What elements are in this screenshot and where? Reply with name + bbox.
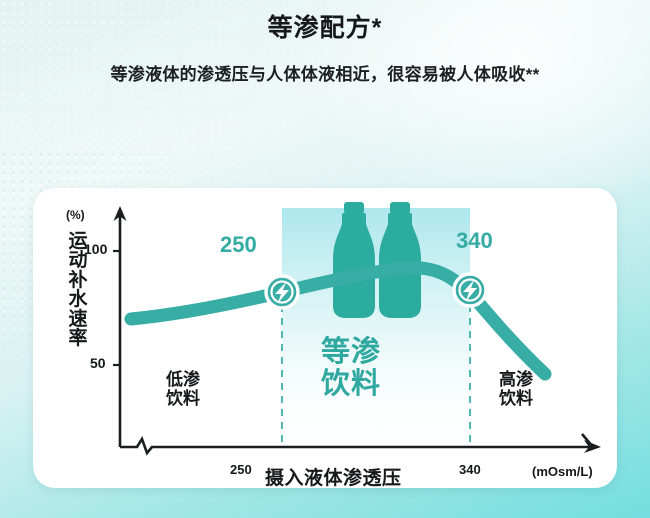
annotation-hypertonic: 高渗 饮料: [483, 370, 549, 408]
y-tick-label-100: 100: [84, 241, 107, 257]
annotation-hypotonic: 低渗 饮料: [150, 370, 216, 408]
annotation-isotonic-line1: 等渗: [291, 336, 411, 368]
marker-340: [454, 274, 486, 306]
isotonic-highlight-band: [282, 208, 470, 448]
marker-label-340: 340: [456, 228, 493, 254]
annotation-hypotonic-line1: 低渗: [150, 370, 216, 389]
x-tick-label-250: 250: [230, 462, 252, 477]
page-root: 等渗配方* 等渗液体的渗透压与人体体液相近，很容易被人体吸收**: [0, 0, 650, 518]
y-axis-label-char-4: 水: [63, 290, 93, 309]
x-axis-arrow-tail: [582, 434, 593, 447]
y-axis-label-char-5: 速: [63, 310, 93, 329]
page-title: 等渗配方*: [0, 8, 650, 44]
marker-250: [266, 276, 298, 308]
page-subtitle: 等渗液体的渗透压与人体体液相近，很容易被人体吸收**: [0, 60, 650, 85]
y-axis-label-char-3: 补: [63, 271, 93, 290]
x-axis-unit: (mOsm/L): [532, 464, 593, 479]
x-tick-label-340: 340: [459, 462, 481, 477]
y-axis-label-char-6: 率: [63, 329, 93, 348]
annotation-isotonic-line2: 饮料: [291, 368, 411, 400]
annotation-isotonic: 等渗 饮料: [291, 336, 411, 401]
x-axis-label: 摄入液体渗透压: [265, 463, 402, 490]
annotation-hypertonic-line2: 饮料: [483, 389, 549, 408]
chart-card: (%) 运 动 补 水 速 率 100 50 250 340 低渗 饮料 等渗 …: [33, 188, 617, 488]
marker-label-250: 250: [220, 232, 257, 258]
annotation-hypertonic-line1: 高渗: [483, 370, 549, 389]
y-axis-unit: (%): [66, 208, 85, 222]
annotation-hypotonic-line2: 饮料: [150, 389, 216, 408]
y-tick-label-50: 50: [90, 355, 106, 371]
